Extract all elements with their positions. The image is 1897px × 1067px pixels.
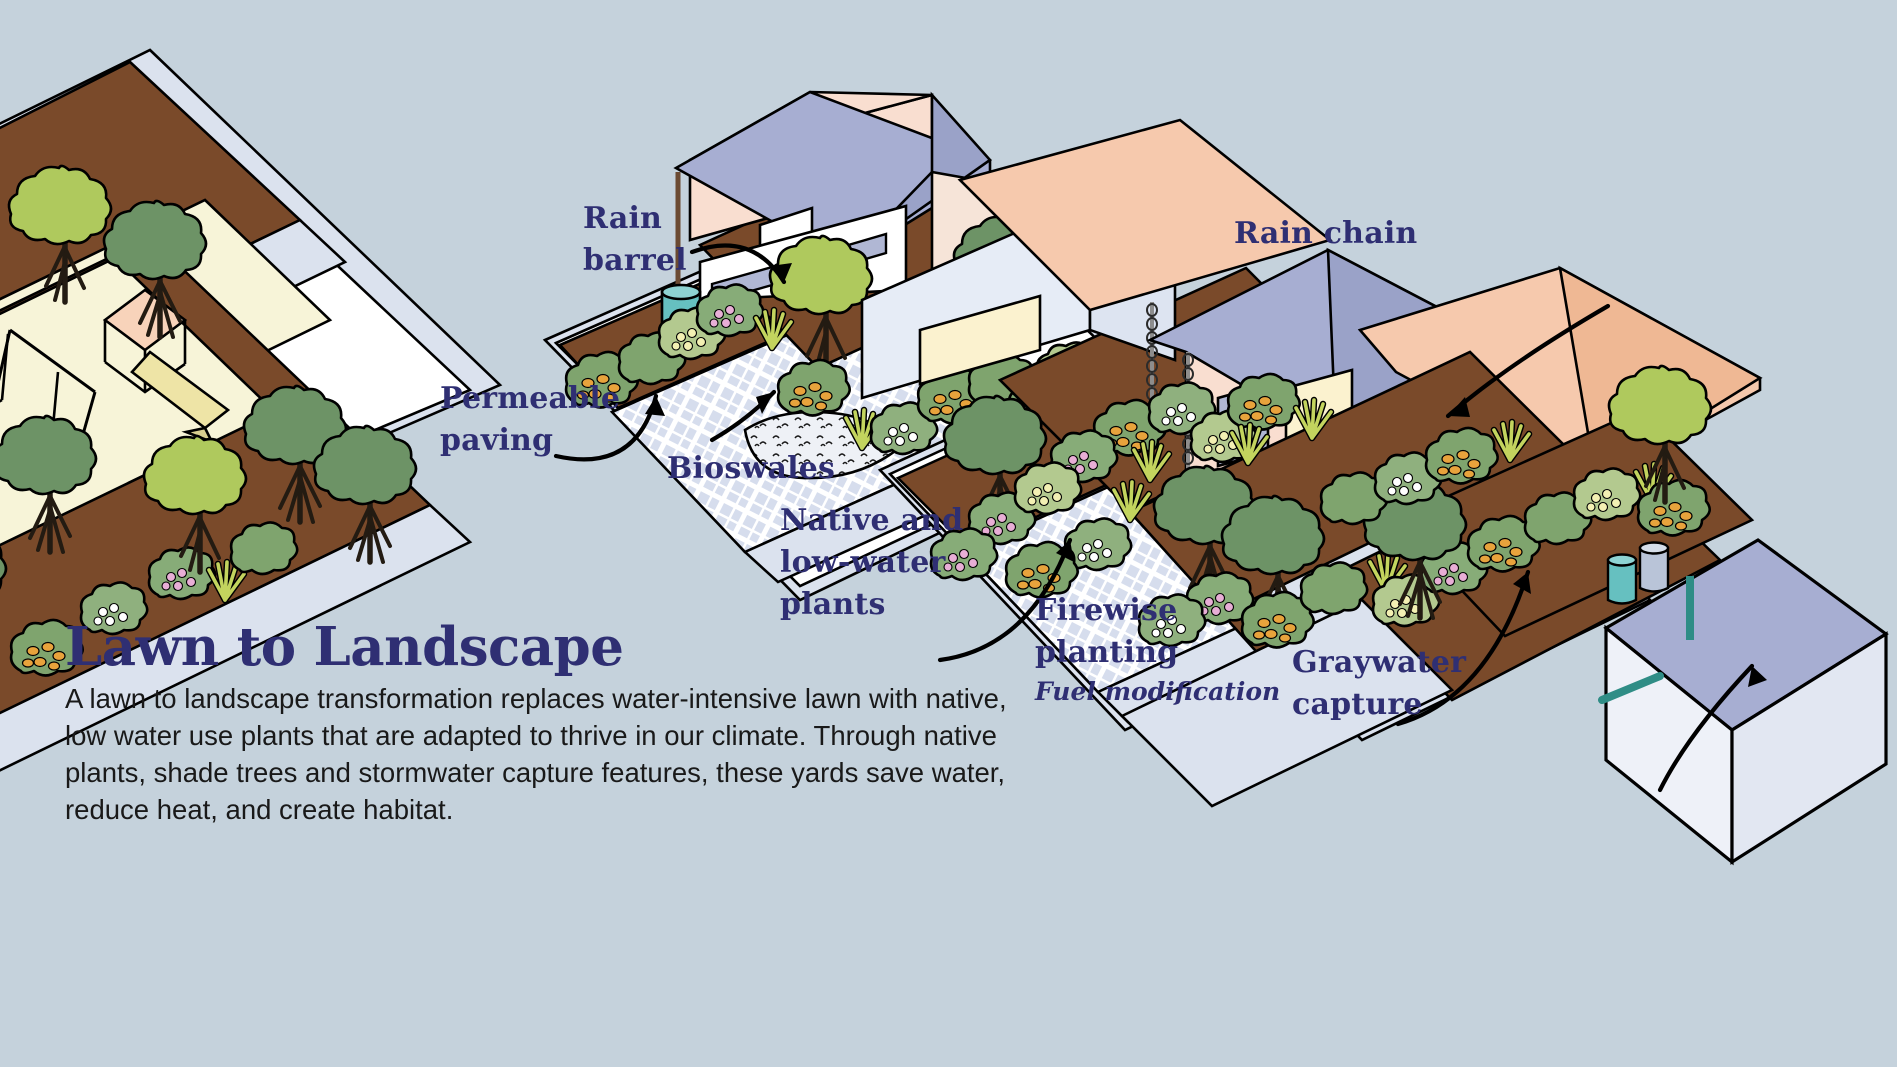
callout-firewise-line-1: Firewise	[1035, 593, 1177, 628]
body-line-3: plants, shade trees and stormwater captu…	[65, 757, 1005, 788]
callout-permeable-paving-line-2: paving	[440, 423, 553, 458]
callout-native-plants-line-2: low-water	[780, 545, 946, 580]
body-line-4: reduce heat, and create habitat.	[65, 794, 453, 825]
callout-native-plants-line-3: plants	[780, 587, 886, 622]
body-line-2: low water use plants that are adapted to…	[65, 720, 997, 751]
callout-rain-chain[interactable]: Rain chain	[1234, 216, 1417, 251]
callout-bioswales[interactable]: Bioswales	[667, 451, 835, 486]
callout-bioswales-line-1: Bioswales	[667, 451, 835, 486]
body-line-1: A lawn to landscape transformation repla…	[65, 683, 1007, 714]
callout-firewise-subtitle: Fuel modification	[1034, 677, 1280, 706]
callout-permeable-paving-line-1: Permeable	[440, 381, 620, 416]
callout-native-plants-line-1: Native and	[780, 503, 963, 538]
callout-rain-barrel-line-2: barrel	[583, 243, 687, 278]
callout-graywater-line-1: Graywater	[1292, 645, 1467, 680]
callout-rain-barrel-line-1: Rain	[583, 201, 662, 236]
page-title: Lawn to Landscape	[65, 616, 623, 678]
callout-firewise-line-2: planting	[1035, 635, 1178, 670]
infographic-canvas: Rain barrel Permeable paving Bioswales N…	[0, 0, 1897, 1067]
callout-graywater-line-2: capture	[1292, 687, 1423, 722]
callout-rain-chain-line-1: Rain chain	[1234, 216, 1417, 251]
